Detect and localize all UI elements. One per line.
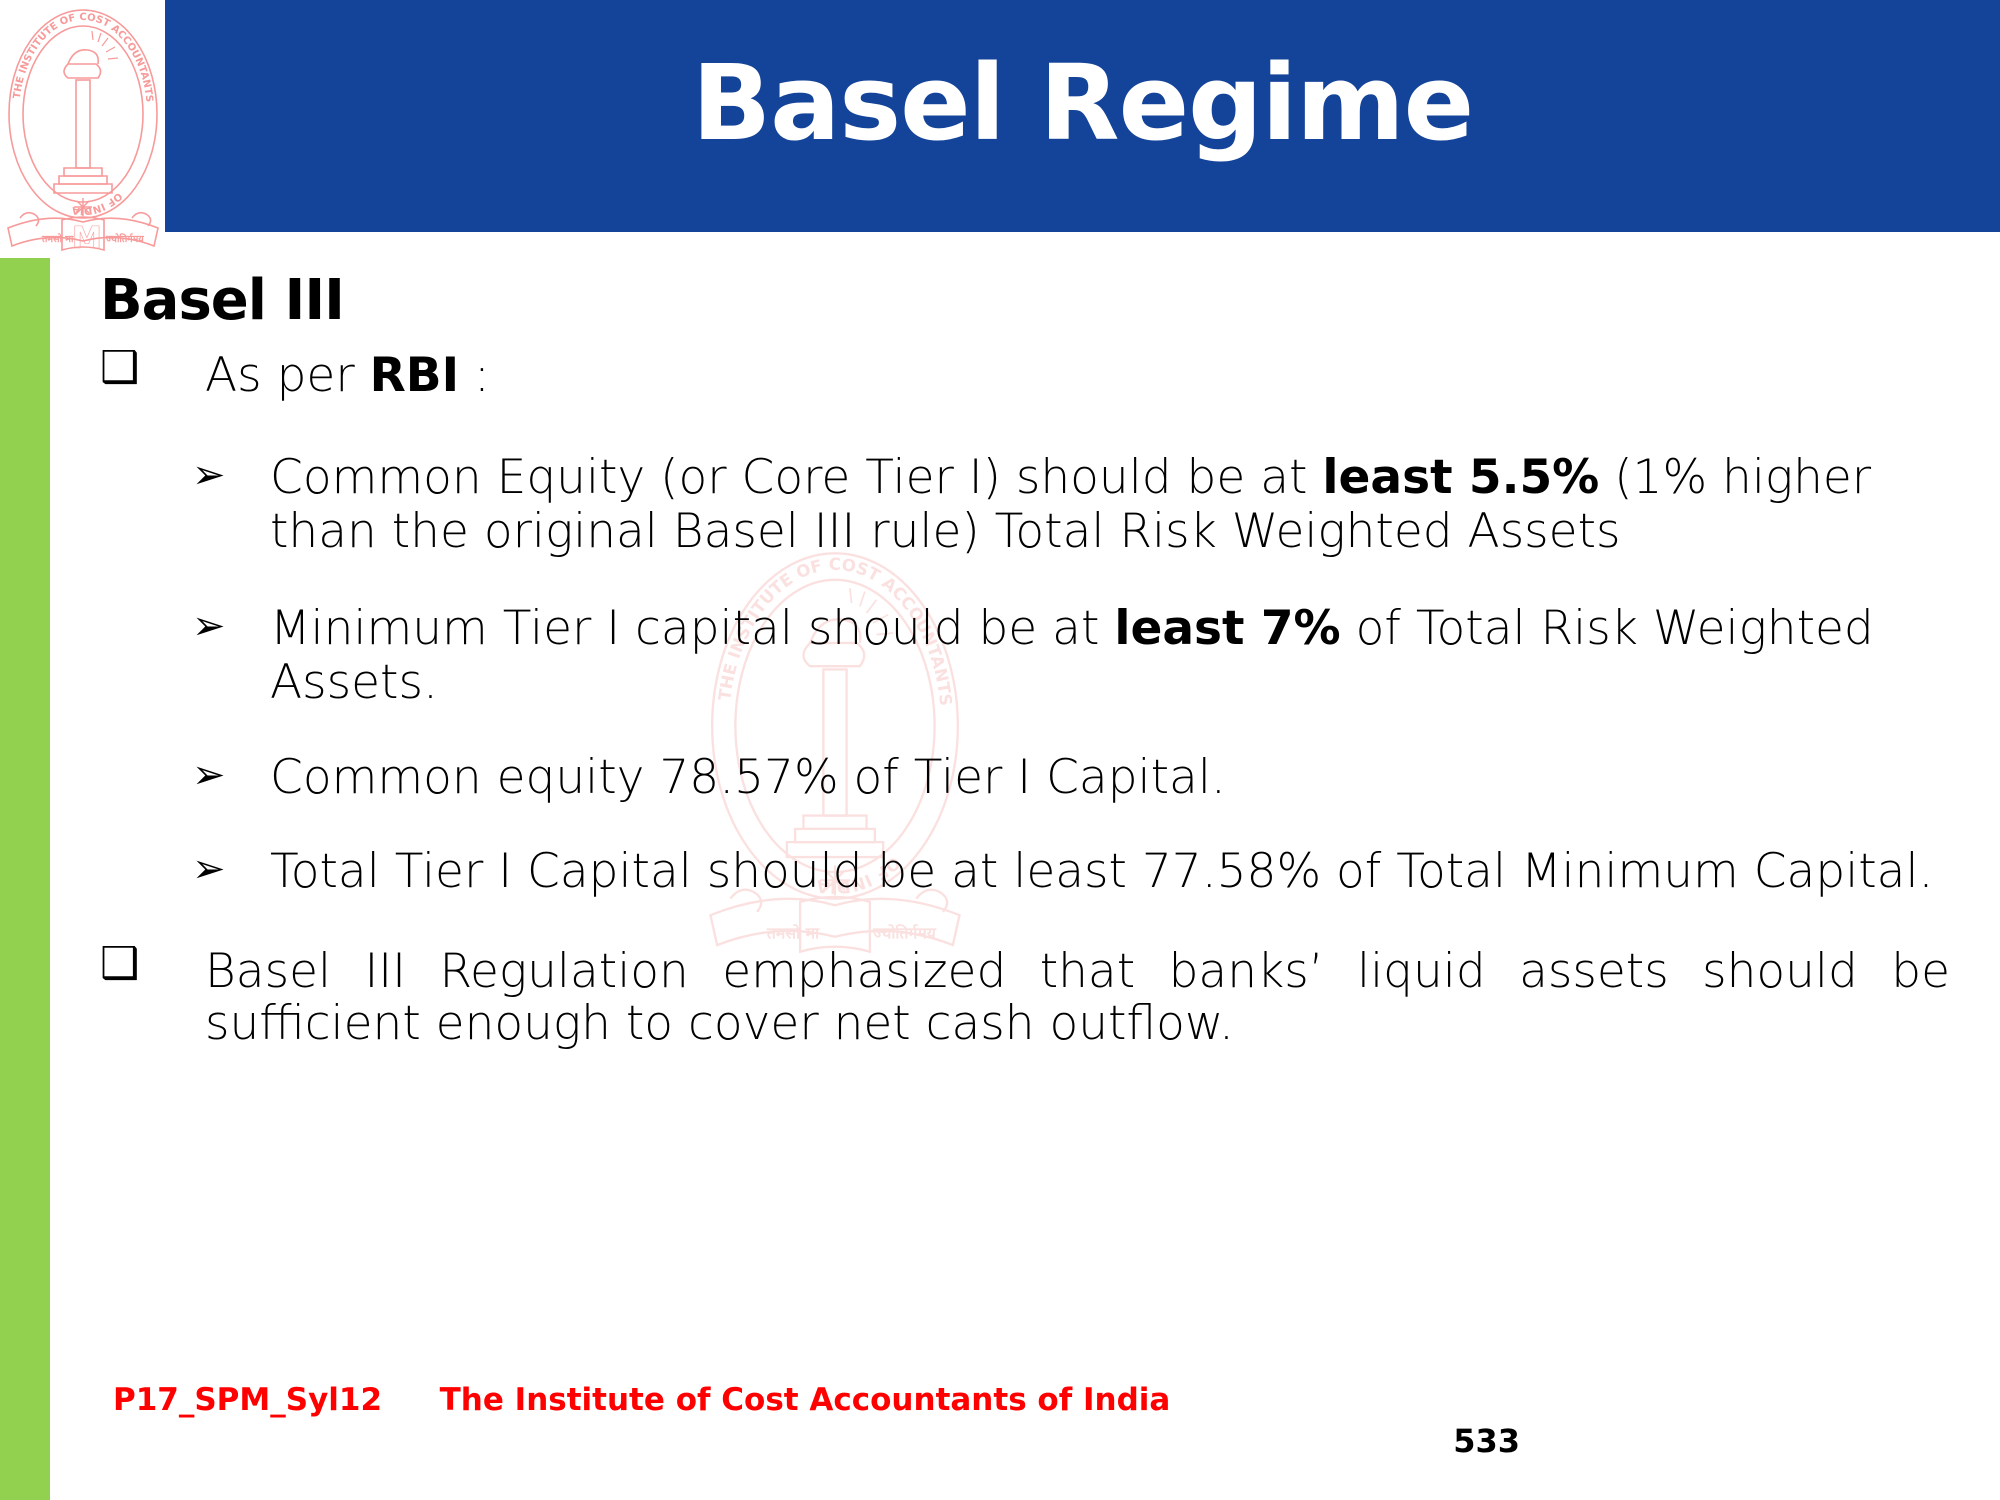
list-item-text: Total Tier I Capital should be at least … bbox=[270, 845, 1945, 900]
page-number: 533 bbox=[1453, 1422, 1520, 1460]
list-item-text: As per RBI : bbox=[205, 348, 490, 403]
list-item: ❑ As per RBI : bbox=[0, 350, 2000, 403]
list-item: ➢ Total Tier I Capital should be at leas… bbox=[0, 845, 2000, 900]
svg-text:तमसो मा: तमसो मा bbox=[41, 233, 74, 245]
list-item-text: Common equity 78.57% of Tier I Capital. bbox=[270, 750, 1226, 805]
list-item-text: Common Equity (or Core Tier I) should be… bbox=[270, 450, 1871, 560]
square-bullet-icon: ❑ bbox=[100, 942, 139, 986]
list-item: ❑ Basel III Regulation emphasized that b… bbox=[0, 946, 2000, 1051]
arrow-bullet-icon: ➢ bbox=[192, 604, 226, 648]
header-bar: Basel Regime bbox=[165, 0, 2000, 232]
footer: P17_SPM_Syl12 The Institute of Cost Acco… bbox=[0, 1360, 2000, 1500]
arrow-bullet-icon: ➢ bbox=[192, 753, 226, 797]
square-bullet-icon: ❑ bbox=[100, 346, 139, 390]
arrow-bullet-icon: ➢ bbox=[192, 847, 226, 891]
bullet-list: ❑ As per RBI : ➢ Common Equity (or Core … bbox=[0, 350, 2000, 1051]
list-item-text: Basel III Regulation emphasized that ban… bbox=[205, 946, 1950, 1051]
svg-text:ज्योतिर्गमय: ज्योतिर्गमय bbox=[105, 233, 144, 245]
list-item: ➢ Minimum Tier I capital should be at le… bbox=[0, 602, 2000, 711]
arrow-bullet-icon: ➢ bbox=[192, 453, 226, 497]
page-title: Basel Regime bbox=[165, 0, 2000, 232]
list-item: ➢ Common equity 78.57% of Tier I Capital… bbox=[0, 751, 2000, 806]
list-item: ➢ Common Equity (or Core Tier I) should … bbox=[0, 451, 2000, 560]
svg-text:M: M bbox=[72, 221, 102, 255]
slide: Basel Regime bbox=[0, 0, 2000, 1500]
footer-institute-name: The Institute of Cost Accountants of Ind… bbox=[0, 1382, 1805, 1418]
list-item-text: Minimum Tier I capital should be at leas… bbox=[270, 601, 1874, 711]
section-heading: Basel III bbox=[100, 268, 344, 333]
institute-logo: तमसो मा ज्योतिर्गमय M THE INSTITUTE OF C… bbox=[2, 2, 164, 255]
